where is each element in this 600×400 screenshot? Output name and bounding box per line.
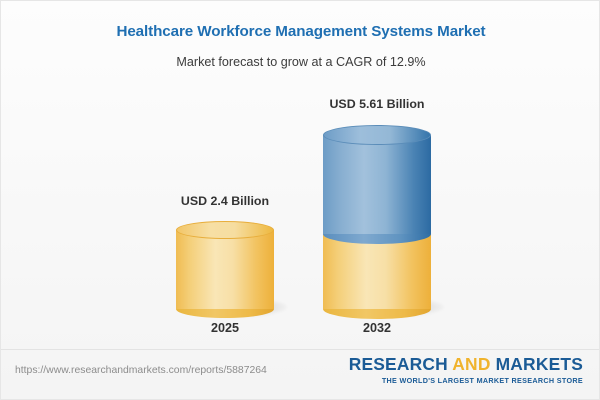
bar-value-label-2025: USD 2.4 Billion [115, 194, 335, 208]
bar-segment-2025-base [176, 221, 274, 309]
bar-segment-2032-base-body [323, 234, 431, 309]
bar-category-label-2032: 2032 [267, 321, 487, 335]
brand-wordmark-research: RESEARCH [349, 354, 453, 374]
brand-logo: RESEARCH AND MARKETS THE WORLD'S LARGEST… [349, 356, 583, 385]
footer-divider [1, 349, 600, 350]
brand-wordmark-and: AND [452, 354, 490, 374]
bar-segment-2025-base-body [176, 230, 274, 309]
bar-segment-2032-growth [323, 125, 431, 234]
brand-tagline: THE WORLD'S LARGEST MARKET RESEARCH STOR… [349, 376, 583, 385]
report-url-link[interactable]: https://www.researchandmarkets.com/repor… [15, 365, 267, 376]
bar-segment-2025-base-top [176, 221, 274, 239]
bar-segment-2032-base [323, 234, 431, 309]
brand-wordmark-markets: MARKETS [491, 354, 583, 374]
bar-value-label-2032: USD 5.61 Billion [267, 97, 487, 111]
bar-segment-2032-growth-top [323, 125, 431, 145]
chart-plot-area: USD 2.4 Billion 2025 USD 5.61 Billion [1, 1, 600, 349]
brand-wordmark: RESEARCH AND MARKETS [349, 356, 583, 373]
bar-segment-2032-growth-body [323, 135, 431, 234]
chart-card: Healthcare Workforce Management Systems … [0, 0, 600, 400]
